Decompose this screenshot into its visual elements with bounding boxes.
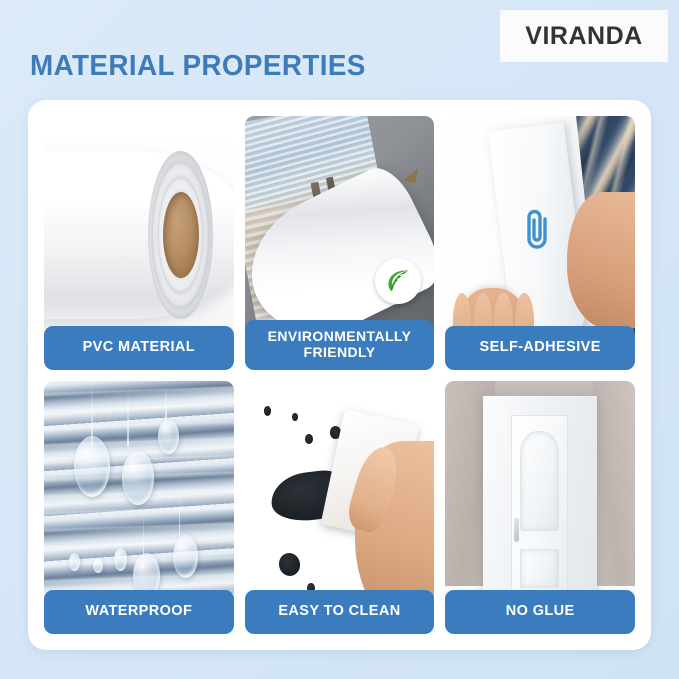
door-slab [511,415,568,596]
feature-tile-self-adhesive[interactable]: SELF-ADHESIVE [445,116,635,370]
stain-spot [292,413,298,421]
water-droplet [158,419,179,454]
water-droplet [69,553,80,571]
water-droplet [173,535,198,578]
feature-tile-easy-to-clean[interactable]: EASY TO CLEAN [245,381,435,635]
feature-label-easy-to-clean: EASY TO CLEAN [245,590,435,634]
feature-label-pvc-material: PVC MATERIAL [44,326,234,370]
pvc-cardboard-core [163,192,199,278]
door-panel-lower [520,549,560,588]
feature-label-waterproof: WATERPROOF [44,590,234,634]
feature-label-no-glue: NO GLUE [445,590,635,634]
right-hand [567,192,635,329]
feature-tile-waterproof[interactable]: WATERPROOF [44,381,234,635]
page-title: MATERIAL PROPERTIES [30,50,366,83]
brand-name: VIRANDA [525,22,642,51]
paperclip-icon [521,207,557,253]
droplet-trail [127,391,129,447]
water-droplet [122,451,154,504]
features-grid: PVC MATERIAL [44,116,635,634]
water-droplet [93,558,102,573]
door-panel-upper [520,431,560,531]
wall-right [593,381,635,599]
leaf-icon [375,258,421,304]
feature-tile-environmentally-friendly[interactable]: ENVIRONMENTALLY FRIENDLY [245,116,435,370]
door-handle-icon [514,518,519,541]
feature-tile-pvc-material[interactable]: PVC MATERIAL [44,116,234,370]
features-card: PVC MATERIAL [28,100,651,650]
feature-label-self-adhesive: SELF-ADHESIVE [445,326,635,370]
feature-label-environmentally-friendly: ENVIRONMENTALLY FRIENDLY [245,320,435,370]
brand-badge: VIRANDA [500,10,668,62]
stain-spot [305,434,313,444]
feature-tile-no-glue[interactable]: NO GLUE [445,381,635,635]
droplet-trail [179,482,181,543]
door-frame [483,396,597,614]
stain-spot [264,406,272,416]
